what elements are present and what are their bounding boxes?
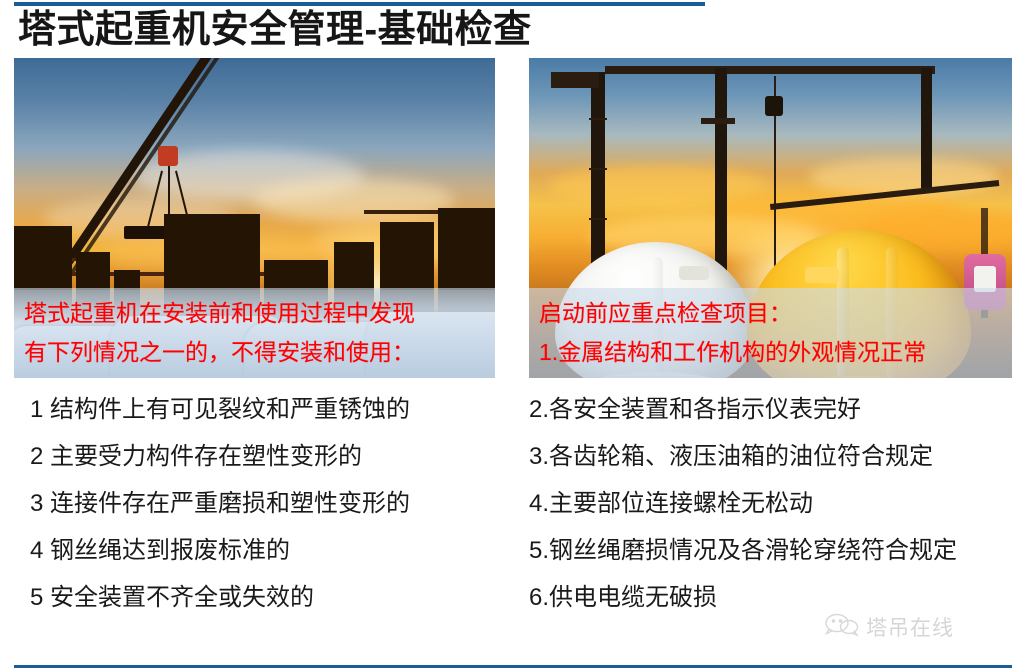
tower-crane-mast — [921, 68, 932, 188]
helmet-vent — [805, 267, 839, 283]
list-item: 4 钢丝绳达到报废标准的 — [30, 527, 500, 574]
crane-hook-block — [765, 96, 783, 116]
tower-crane-jib — [605, 66, 935, 74]
crane-lattice — [589, 118, 607, 120]
bottom-accent-rule — [14, 665, 1012, 668]
left-caption-band: 塔式起重机在安装前和使用过程中发现 有下列情况之一的，不得安装和使用： — [14, 288, 495, 378]
helmet-vent — [679, 266, 709, 280]
crane-hook-block — [158, 146, 178, 166]
tower-crane-counter-jib — [551, 72, 599, 88]
right-caption-line-2: 1.金属结构和工作机构的外观情况正常 — [539, 333, 1002, 372]
list-item: 4.主要部位连接螺栓无松动 — [529, 480, 1012, 527]
crane-lattice — [589, 218, 607, 220]
wechat-icon — [825, 613, 859, 642]
list-item: 1 结构件上有可见裂纹和严重锈蚀的 — [30, 386, 500, 433]
list-item: 3 连接件存在严重磨损和塑性变形的 — [30, 480, 500, 527]
right-caption-line-1: 启动前应重点检查项目： — [539, 294, 1002, 333]
watermark-text: 塔吊在线 — [866, 612, 954, 642]
left-caption-line-1: 塔式起重机在安装前和使用过程中发现 — [24, 294, 485, 333]
list-item: 2.各安全装置和各指示仪表完好 — [529, 386, 1012, 433]
left-caption-line-2: 有下列情况之一的，不得安装和使用： — [24, 333, 485, 372]
right-checklist: 2.各安全装置和各指示仪表完好 3.各齿轮箱、液压油箱的油位符合规定 4.主要部… — [529, 386, 1012, 621]
tower-crane-trolley — [701, 118, 735, 124]
watermark: 塔吊在线 — [825, 612, 954, 642]
crane-lattice — [589, 168, 607, 170]
right-caption-band: 启动前应重点检查项目： 1.金属结构和工作机构的外观情况正常 — [529, 288, 1012, 378]
right-image-panel: 启动前应重点检查项目： 1.金属结构和工作机构的外观情况正常 — [529, 58, 1012, 378]
top-accent-rule — [14, 2, 705, 6]
left-image-panel: 塔式起重机在安装前和使用过程中发现 有下列情况之一的，不得安装和使用： — [14, 58, 495, 378]
list-item: 5 安全装置不齐全或失效的 — [30, 574, 500, 621]
list-item: 3.各齿轮箱、液压油箱的油位符合规定 — [529, 433, 1012, 480]
list-item: 2 主要受力构件存在塑性变形的 — [30, 433, 500, 480]
page-title: 塔式起重机安全管理-基础检查 — [18, 8, 532, 52]
list-item: 5.钢丝绳磨损情况及各滑轮穿绕符合规定 — [529, 527, 1012, 574]
left-checklist: 1 结构件上有可见裂纹和严重锈蚀的 2 主要受力构件存在塑性变形的 3 连接件存… — [30, 386, 500, 621]
